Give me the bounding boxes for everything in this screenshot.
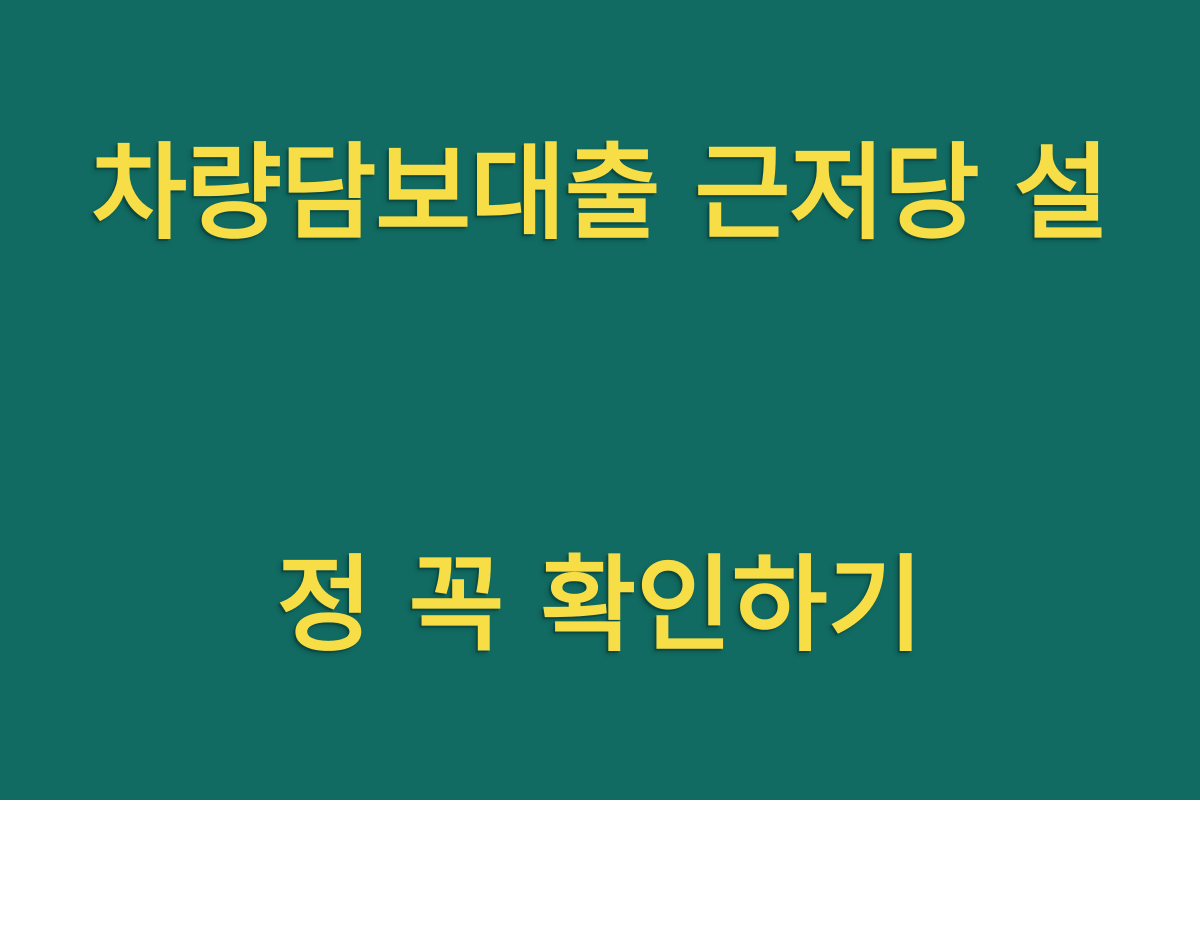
banner-headline: 차량담보대출 근저당 설 정 꼭 확인하기 — [70, 0, 1130, 949]
banner-headline-line-2: 정 꼭 확인하기 — [70, 537, 1130, 674]
banner-headline-line-1: 차량담보대출 근저당 설 — [70, 125, 1130, 262]
banner-background: 차량담보대출 근저당 설 정 꼭 확인하기 — [0, 0, 1200, 800]
